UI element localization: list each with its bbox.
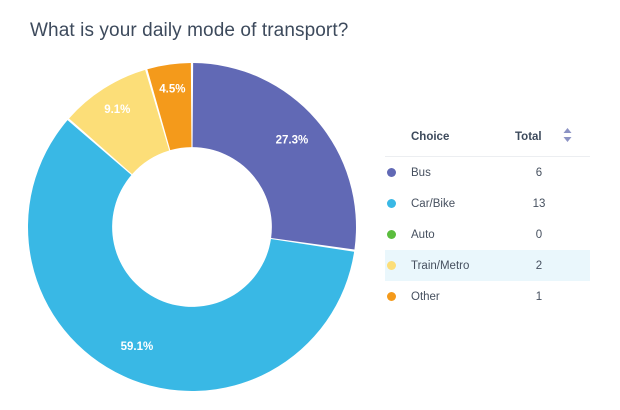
donut-chart-svg: 27.3%59.1%9.1%4.5% bbox=[24, 59, 360, 395]
legend-swatch-cell bbox=[385, 281, 411, 312]
legend-choice-label: Auto bbox=[411, 219, 515, 250]
legend-color-dot-icon bbox=[387, 230, 396, 239]
legend-row-spacer bbox=[563, 157, 590, 189]
page-title: What is your daily mode of transport? bbox=[30, 20, 348, 42]
legend-table-body: Bus6Car/Bike13Auto0Train/Metro2Other1 bbox=[385, 157, 590, 313]
legend-choice-label: Other bbox=[411, 281, 515, 312]
slice-percent-label: 4.5% bbox=[159, 84, 185, 96]
legend-total-value: 6 bbox=[515, 157, 563, 189]
legend-row[interactable]: Train/Metro2 bbox=[385, 250, 590, 281]
legend-header-total[interactable]: Total bbox=[515, 128, 563, 157]
legend-panel: Choice Total Bus6Car/Bike13Auto0Train/Me… bbox=[385, 128, 590, 312]
legend-header-sort bbox=[563, 128, 590, 157]
legend-header-choice[interactable]: Choice bbox=[411, 128, 515, 157]
donut-slice-bus[interactable] bbox=[193, 63, 356, 249]
donut-slices bbox=[28, 63, 356, 391]
slice-percent-label: 27.3% bbox=[276, 135, 309, 147]
legend-total-value: 0 bbox=[515, 219, 563, 250]
legend-swatch-cell bbox=[385, 250, 411, 281]
sort-toggle-icon[interactable] bbox=[563, 128, 572, 142]
legend-color-dot-icon bbox=[387, 168, 396, 177]
legend-row-spacer bbox=[563, 219, 590, 250]
legend-row[interactable]: Other1 bbox=[385, 281, 590, 312]
legend-swatch-cell bbox=[385, 188, 411, 219]
legend-swatch-cell bbox=[385, 219, 411, 250]
slice-percent-label: 59.1% bbox=[121, 341, 154, 353]
legend-total-value: 1 bbox=[515, 281, 563, 312]
legend-row-spacer bbox=[563, 250, 590, 281]
legend-row[interactable]: Bus6 bbox=[385, 157, 590, 189]
donut-chart: 27.3%59.1%9.1%4.5% bbox=[24, 59, 360, 395]
legend-swatch-cell bbox=[385, 157, 411, 189]
legend-table-head: Choice Total bbox=[385, 128, 590, 157]
slice-percent-label: 9.1% bbox=[104, 104, 130, 116]
legend-row[interactable]: Auto0 bbox=[385, 219, 590, 250]
legend-choice-label: Bus bbox=[411, 157, 515, 189]
legend-header-row: Choice Total bbox=[385, 128, 590, 157]
legend-total-value: 13 bbox=[515, 188, 563, 219]
legend-color-dot-icon bbox=[387, 261, 396, 270]
legend-row-spacer bbox=[563, 188, 590, 219]
legend-table: Choice Total Bus6Car/Bike13Auto0Train/Me… bbox=[385, 128, 590, 312]
legend-header-swatch bbox=[385, 128, 411, 157]
legend-row-spacer bbox=[563, 281, 590, 312]
legend-color-dot-icon bbox=[387, 292, 396, 301]
legend-choice-label: Car/Bike bbox=[411, 188, 515, 219]
legend-color-dot-icon bbox=[387, 199, 396, 208]
legend-row[interactable]: Car/Bike13 bbox=[385, 188, 590, 219]
chart-page: What is your daily mode of transport? 27… bbox=[0, 0, 620, 410]
legend-total-value: 2 bbox=[515, 250, 563, 281]
legend-choice-label: Train/Metro bbox=[411, 250, 515, 281]
